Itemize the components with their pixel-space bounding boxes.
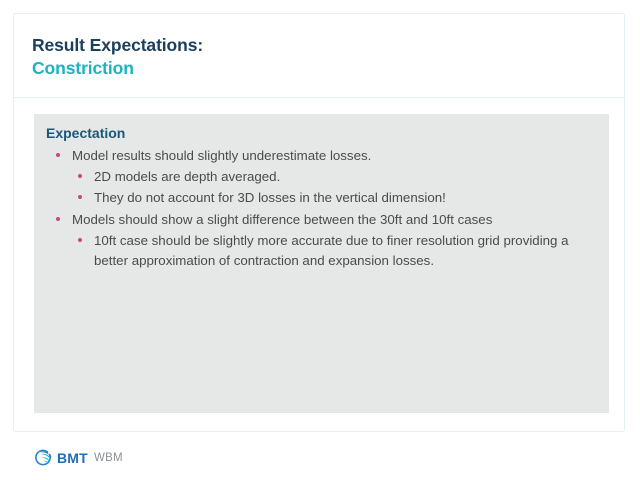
bullet-dot-icon bbox=[78, 238, 82, 242]
bullet-dot-icon bbox=[56, 217, 60, 221]
expectation-bullet-list: Model results should slightly underestim… bbox=[46, 146, 597, 271]
slide-frame: Result Expectations: Constriction Expect… bbox=[13, 13, 625, 432]
slide-title-block: Result Expectations: Constriction bbox=[14, 14, 624, 98]
list-item: Model results should slightly underestim… bbox=[46, 146, 597, 166]
bullet-dot-icon bbox=[56, 153, 60, 157]
bullet-dot-icon bbox=[78, 174, 82, 178]
list-item: 2D models are depth averaged. bbox=[46, 167, 597, 187]
list-item-text: 10ft case should be slightly more accura… bbox=[94, 233, 569, 268]
page-title: Result Expectations: bbox=[32, 34, 624, 57]
list-item-text: They do not account for 3D losses in the… bbox=[94, 190, 446, 205]
globe-swirl-icon bbox=[34, 448, 53, 467]
brand-name-primary: BMT bbox=[57, 450, 88, 466]
slide: Result Expectations: Constriction Expect… bbox=[0, 0, 640, 480]
list-item: 10ft case should be slightly more accura… bbox=[46, 231, 597, 271]
list-item-text: Models should show a slight difference b… bbox=[72, 212, 492, 227]
page-subtitle: Constriction bbox=[32, 57, 624, 80]
list-item: They do not account for 3D losses in the… bbox=[46, 188, 597, 208]
expectation-panel: Expectation Model results should slightl… bbox=[34, 114, 609, 413]
list-item: Models should show a slight difference b… bbox=[46, 210, 597, 230]
panel-heading: Expectation bbox=[46, 124, 597, 143]
list-item-text: 2D models are depth averaged. bbox=[94, 169, 280, 184]
brand-name-secondary: WBM bbox=[94, 452, 123, 464]
bullet-dot-icon bbox=[78, 195, 82, 199]
list-item-text: Model results should slightly underestim… bbox=[72, 148, 371, 163]
footer-logo: BMT WBM bbox=[34, 448, 123, 467]
